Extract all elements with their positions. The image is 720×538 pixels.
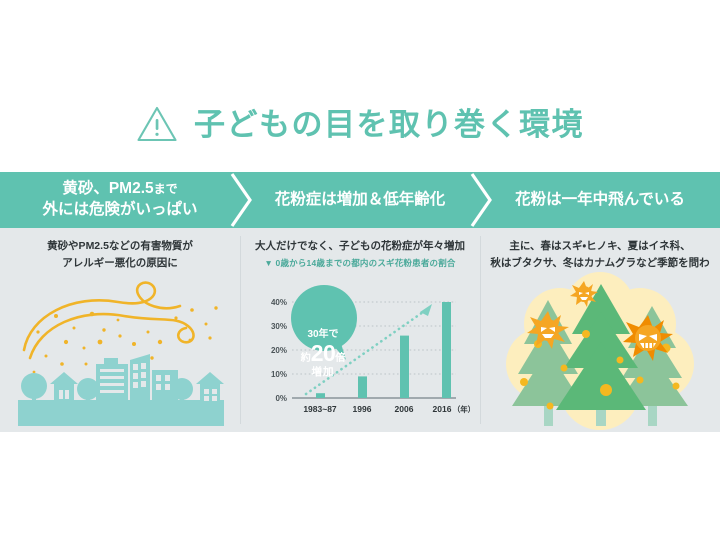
warning-triangle-icon (136, 104, 178, 144)
bar-1983-87 (316, 393, 325, 398)
xtick-2: 1996 (353, 404, 372, 414)
page-header: 子どもの目を取り巻く環境 (0, 104, 720, 144)
band-step-3-label: 花粉は一年中飛んでいる (515, 190, 685, 211)
ytick-20: 20% (271, 346, 287, 355)
band-step-2: 花粉症は増加＆低年齢化 (240, 172, 480, 228)
cedar-trees-pollen-illustration (480, 272, 720, 430)
column-year-round-pollen: 主に、春はスギ・ヒノキ、夏はイネ科、 秋はブタクサ、冬はカナムグラなど季節を問わ… (480, 228, 720, 432)
column-1-caption-line2: アレルギー悪化の原因に (6, 255, 234, 272)
band-step-1-line1-suffix: まで (154, 182, 178, 196)
column-1-caption: 黄砂やPM2.5などの有害物質が アレルギー悪化の原因に (6, 238, 234, 273)
page-title: 子どもの目を取り巻く環境 (194, 109, 584, 140)
bar-2016 (442, 302, 451, 398)
content-panel: 黄砂やPM2.5などの有害物質が アレルギー悪化の原因に (0, 228, 720, 432)
city-skyline-dust-illustration (0, 272, 240, 430)
column-1-caption-line1: 黄砂やPM2.5などの有害物質が (6, 238, 234, 255)
xtick-3: 2006 (395, 404, 414, 414)
column-yellow-sand: 黄砂やPM2.5などの有害物質が アレルギー悪化の原因に (0, 228, 240, 432)
ytick-10: 10% (271, 370, 287, 379)
process-step-band: 黄砂、PM2.5まで 外には危険がいっぱい 花粉症は増加＆低年齢化 花粉は一年中… (0, 172, 720, 228)
band-step-1-line1-main: 黄砂、PM2.5 (62, 180, 153, 197)
callout-bubble-shape (291, 285, 357, 351)
column-3-caption-line1: 主に、春はスギ・ヒノキ、夏はイネ科、 (486, 238, 714, 255)
xaxis-unit: （年） (453, 404, 470, 414)
band-step-2-label: 花粉症は増加＆低年齢化 (275, 190, 446, 211)
column-2-subtitle: ▼ 0歳から14歳までの都内のスギ花粉患者の割合 (246, 257, 474, 269)
ytick-30: 30% (271, 322, 287, 331)
chevron-separator-1-icon (228, 172, 258, 228)
band-step-1: 黄砂、PM2.5まで 外には危険がいっぱい (0, 172, 240, 228)
xtick-1: 1983~87 (303, 404, 337, 414)
pollen-patient-bar-chart: 40% 30% 20% 10% 0% (250, 274, 470, 424)
band-step-3: 花粉は一年中飛んでいる (480, 172, 720, 228)
ytick-40: 40% (271, 298, 287, 307)
xtick-4: 2016 (433, 404, 452, 414)
chevron-separator-2-icon (468, 172, 498, 228)
column-2-caption: 大人だけでなく、子どもの花粉症が年々増加 (246, 238, 474, 255)
bar-chart-svg: 40% 30% 20% 10% 0% (250, 274, 470, 424)
bar-2006 (400, 336, 409, 398)
column-2-caption-line1: 大人だけでなく、子どもの花粉症が年々増加 (246, 238, 474, 255)
ytick-0: 0% (275, 394, 287, 403)
band-step-1-line2: 外には危険がいっぱい (42, 200, 197, 221)
column-hay-fever-increase: 大人だけでなく、子どもの花粉症が年々増加 ▼ 0歳から14歳までの都内のスギ花粉… (240, 228, 480, 432)
bar-1996 (358, 376, 367, 398)
